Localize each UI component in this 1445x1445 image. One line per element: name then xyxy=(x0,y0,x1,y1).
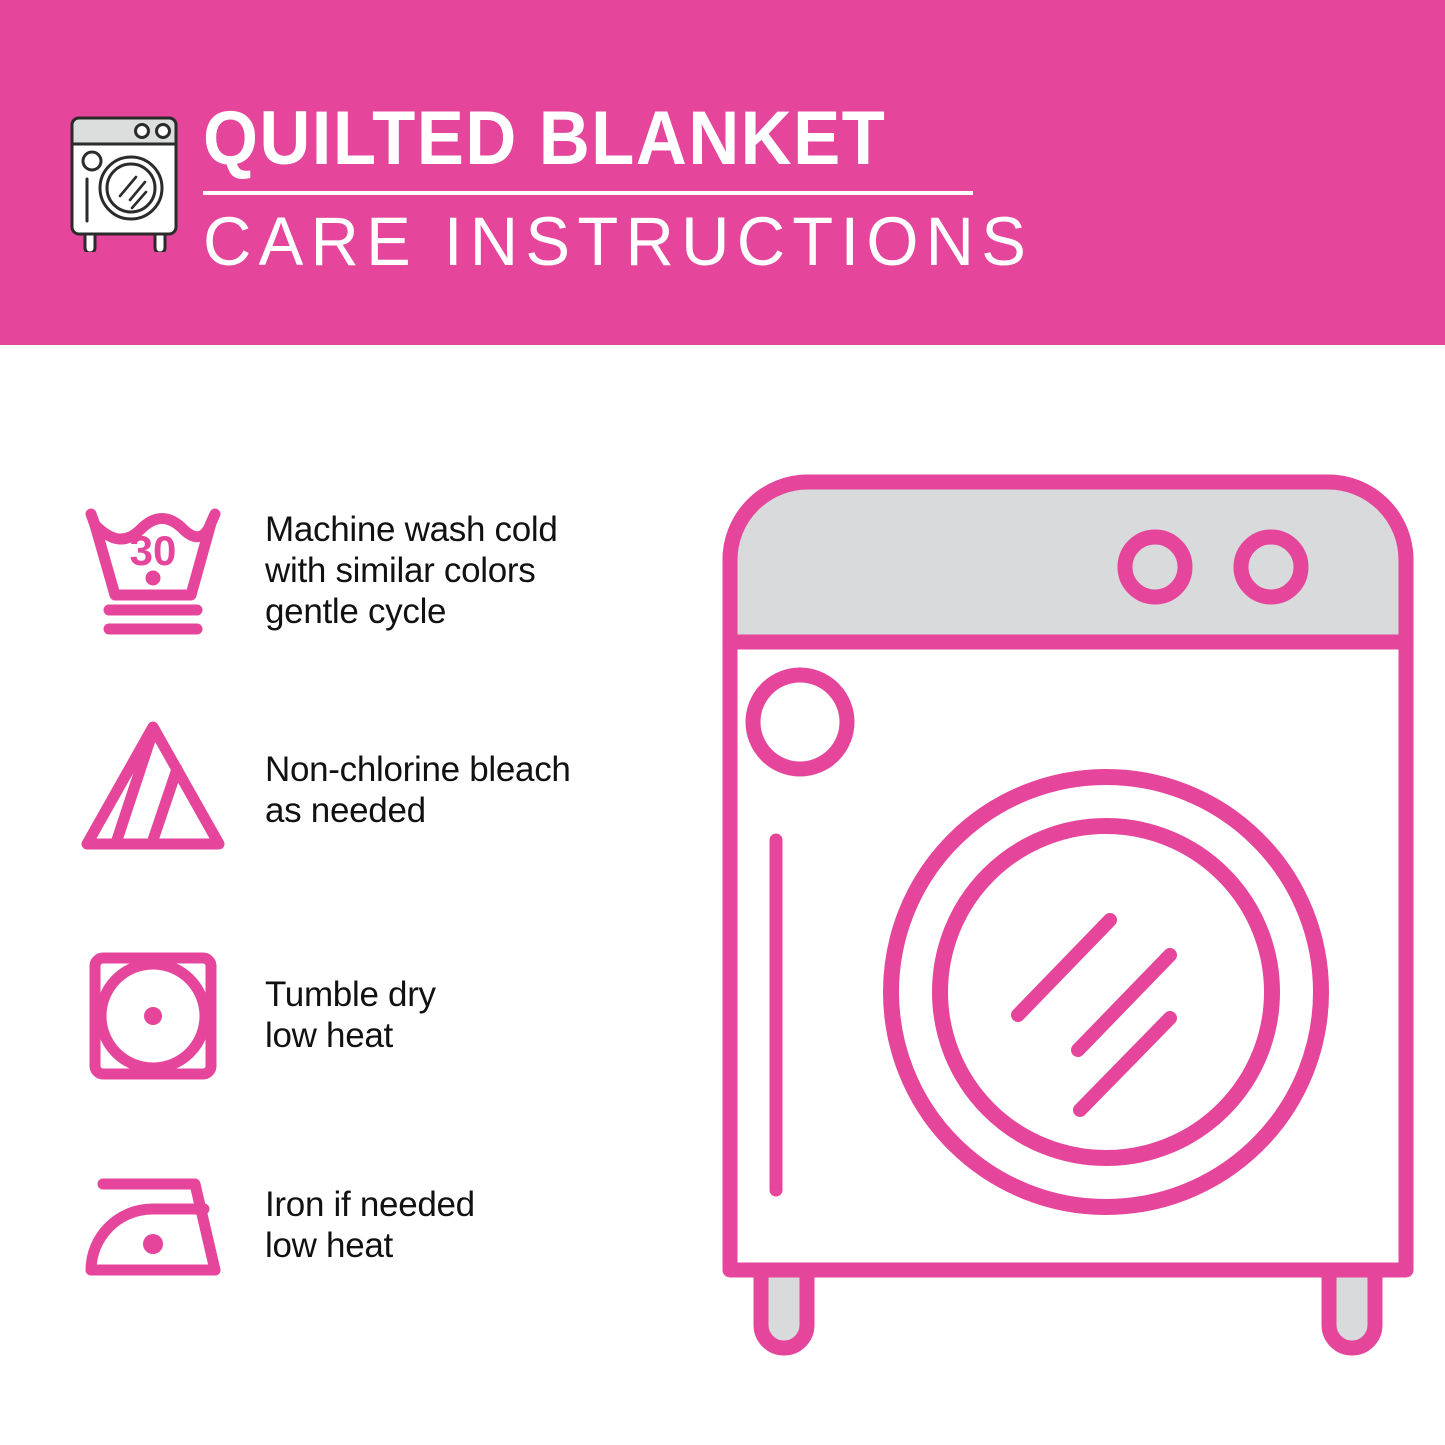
header-banner: QUILTED BLANKET CARE INSTRUCTIONS xyxy=(0,0,1445,345)
care-label-line: gentle cycle xyxy=(265,591,558,632)
inner-drum xyxy=(940,826,1272,1158)
care-label-line: Tumble dry xyxy=(265,974,436,1015)
care-label-bleach: Non-chlorine bleach as needed xyxy=(265,749,571,831)
care-label-machine-wash: Machine wash cold with similar colors ge… xyxy=(265,509,558,632)
non-chlorine-bleach-triangle-icon xyxy=(65,703,240,878)
washing-machine-icon xyxy=(62,104,190,252)
care-label-line: Iron if needed xyxy=(265,1184,475,1225)
knob-right xyxy=(1241,537,1301,597)
front-load-washing-machine-illustration xyxy=(718,470,1418,1370)
page-subtitle: CARE INSTRUCTIONS xyxy=(203,206,969,278)
care-instructions-infographic: QUILTED BLANKET CARE INSTRUCTIONS 3 xyxy=(0,0,1445,1445)
care-label-tumble-dry: Tumble dry low heat xyxy=(265,974,436,1056)
care-row-machine-wash: 30 Machine wash cold with similar colors… xyxy=(0,480,700,660)
care-label-line: Machine wash cold xyxy=(265,509,558,550)
care-label-line: low heat xyxy=(265,1225,475,1266)
header-text-block: QUILTED BLANKET CARE INSTRUCTIONS xyxy=(203,100,993,278)
care-label-line: low heat xyxy=(265,1015,436,1056)
care-row-iron: Iron if needed low heat xyxy=(0,1135,700,1315)
title-divider xyxy=(203,191,973,195)
knob-left xyxy=(1125,537,1185,597)
care-label-iron: Iron if needed low heat xyxy=(265,1184,475,1266)
care-label-line: as needed xyxy=(265,790,571,831)
page-title: QUILTED BLANKET xyxy=(203,100,938,178)
wash-temperature-value: 30 xyxy=(130,527,177,574)
care-row-bleach: Non-chlorine bleach as needed xyxy=(0,700,700,880)
care-instruction-list: 30 Machine wash cold with similar colors… xyxy=(0,345,700,1445)
wash-tub-30-gentle-icon: 30 xyxy=(65,483,240,658)
detergent-dispenser xyxy=(753,675,847,769)
care-label-line: with similar colors xyxy=(265,550,558,591)
tumble-dry-low-heat-icon xyxy=(65,928,240,1103)
iron-low-heat-icon xyxy=(65,1138,240,1313)
care-label-line: Non-chlorine bleach xyxy=(265,749,571,790)
care-row-tumble-dry: Tumble dry low heat xyxy=(0,925,700,1105)
